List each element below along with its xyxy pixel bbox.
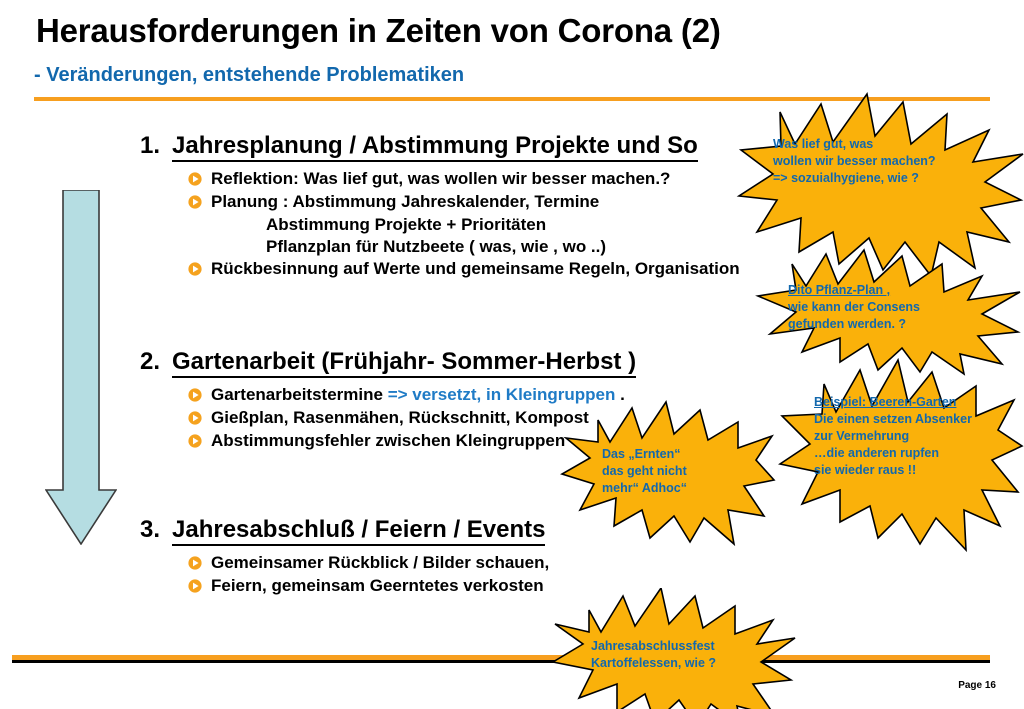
section-3: 3.Jahresabschluß / Feiern / Events Gemei… [140, 516, 549, 598]
burst-line: mehr“ Adhoc“ [602, 480, 687, 497]
burst-line: Beispiel: Beeren-Garten [814, 394, 972, 411]
list-item: Gemeinsamer Rückblick / Bilder schauen, [188, 552, 549, 574]
bullet-label: Reflektion: Was lief gut, was wollen wir… [211, 168, 670, 190]
burst-jahresabschlussfest-text: Jahresabschlussfest Kartoffelessen, wie … [591, 638, 716, 672]
section-3-bullet-list: Gemeinsamer Rückblick / Bilder schauen, … [188, 552, 549, 597]
section-3-heading-text: Jahresabschluß / Feiern / Events [172, 516, 545, 546]
play-bullet-icon [188, 195, 202, 209]
burst-ernten-text: Das „Ernten“ das geht nicht mehr“ Adhoc“ [602, 446, 687, 497]
footer-divider-black [12, 660, 990, 663]
section-1: 1.Jahresplanung / Abstimmung Projekte un… [140, 132, 740, 281]
burst-line: gefunden werden. ? [788, 316, 920, 333]
slide-canvas: Herausforderungen in Zeiten von Corona (… [0, 0, 1024, 709]
burst-line: Was lief gut, was [773, 136, 936, 153]
burst-line-underlined: Beispiel: Beeren-Garten [814, 395, 956, 409]
page-subtitle: - Veränderungen, entstehende Problematik… [34, 64, 464, 87]
section-1-subline-1: Abstimmung Projekte + Prioritäten [266, 214, 740, 236]
bullet-label: Planung : Abstimmung Jahreskalender, Ter… [211, 191, 599, 213]
burst-line: das geht nicht [602, 463, 687, 480]
section-1-number: 1. [140, 132, 172, 160]
bullet-label: Abstimmungsfehler zwischen Kleingruppen [211, 430, 565, 452]
burst-reflektion-text: Was lief gut, was wollen wir besser mach… [773, 136, 936, 187]
play-bullet-icon [188, 411, 202, 425]
section-3-number: 3. [140, 516, 172, 544]
section-2-number: 2. [140, 348, 172, 376]
list-item: Feiern, gemeinsam Geerntetes verkosten [188, 575, 549, 597]
page-number: Page 16 [958, 680, 996, 691]
play-bullet-icon [188, 172, 202, 186]
play-bullet-icon [188, 388, 202, 402]
burst-line: Kartoffelessen, wie ? [591, 655, 716, 672]
section-1-bullet-list: Reflektion: Was lief gut, was wollen wir… [188, 168, 740, 280]
section-1-subline-2: Pflanzplan für Nutzbeete ( was, wie , wo… [266, 236, 740, 258]
bullet-label: Feiern, gemeinsam Geerntetes verkosten [211, 575, 544, 597]
bullet-label: Gemeinsamer Rückblick / Bilder schauen, [211, 552, 549, 574]
play-bullet-icon [188, 262, 202, 276]
burst-line: …die anderen rupfen [814, 445, 972, 462]
burst-line: Jahresabschlussfest [591, 638, 716, 655]
bullet-label-main: Gartenarbeitstermine [211, 385, 388, 404]
list-item: Rückbesinnung auf Werte und gemeinsame R… [188, 258, 740, 280]
down-arrow-shape [45, 190, 117, 545]
section-2-heading-text: Gartenarbeit (Frühjahr- Sommer-Herbst ) [172, 348, 636, 378]
burst-line: Das „Ernten“ [602, 446, 687, 463]
list-item: Reflektion: Was lief gut, was wollen wir… [188, 168, 740, 190]
section-1-heading: 1.Jahresplanung / Abstimmung Projekte un… [140, 132, 740, 160]
section-1-heading-text: Jahresplanung / Abstimmung Projekte und … [172, 132, 698, 162]
burst-line: sie wieder raus !! [814, 462, 972, 479]
play-bullet-icon [188, 556, 202, 570]
list-item: Planung : Abstimmung Jahreskalender, Ter… [188, 191, 740, 213]
burst-line: Die einen setzen Absenker [814, 411, 972, 428]
play-bullet-icon [188, 434, 202, 448]
bullet-label: Rückbesinnung auf Werte und gemeinsame R… [211, 258, 740, 280]
burst-pflanzplan-text: Dito Pflanz-Plan , wie kann der Consens … [788, 282, 920, 333]
burst-line: => sozuialhygiene, wie ? [773, 170, 936, 187]
burst-beeren-garten: Beispiel: Beeren-Garten Die einen setzen… [778, 358, 1024, 554]
burst-line: Dito Pflanz-Plan , [788, 282, 920, 299]
burst-line: wie kann der Consens [788, 299, 920, 316]
section-2-heading: 2.Gartenarbeit (Frühjahr- Sommer-Herbst … [140, 348, 636, 376]
bullet-label: Gießplan, Rasenmähen, Rückschnitt, Kompo… [211, 407, 589, 429]
burst-line: zur Vermehrung [814, 428, 972, 445]
burst-ernten: Das „Ernten“ das geht nicht mehr“ Adhoc“ [560, 398, 776, 548]
play-bullet-icon [188, 579, 202, 593]
section-3-heading: 3.Jahresabschluß / Feiern / Events [140, 516, 549, 544]
burst-line: wollen wir besser machen? [773, 153, 936, 170]
burst-beeren-garten-text: Beispiel: Beeren-Garten Die einen setzen… [814, 394, 972, 479]
burst-pflanzplan: Dito Pflanz-Plan , wie kann der Consens … [752, 248, 1024, 376]
burst-line-underlined: Dito Pflanz-Plan , [788, 283, 890, 297]
burst-jahresabschlussfest: Jahresabschlussfest Kartoffelessen, wie … [545, 588, 797, 709]
page-title: Herausforderungen in Zeiten von Corona (… [36, 12, 721, 50]
